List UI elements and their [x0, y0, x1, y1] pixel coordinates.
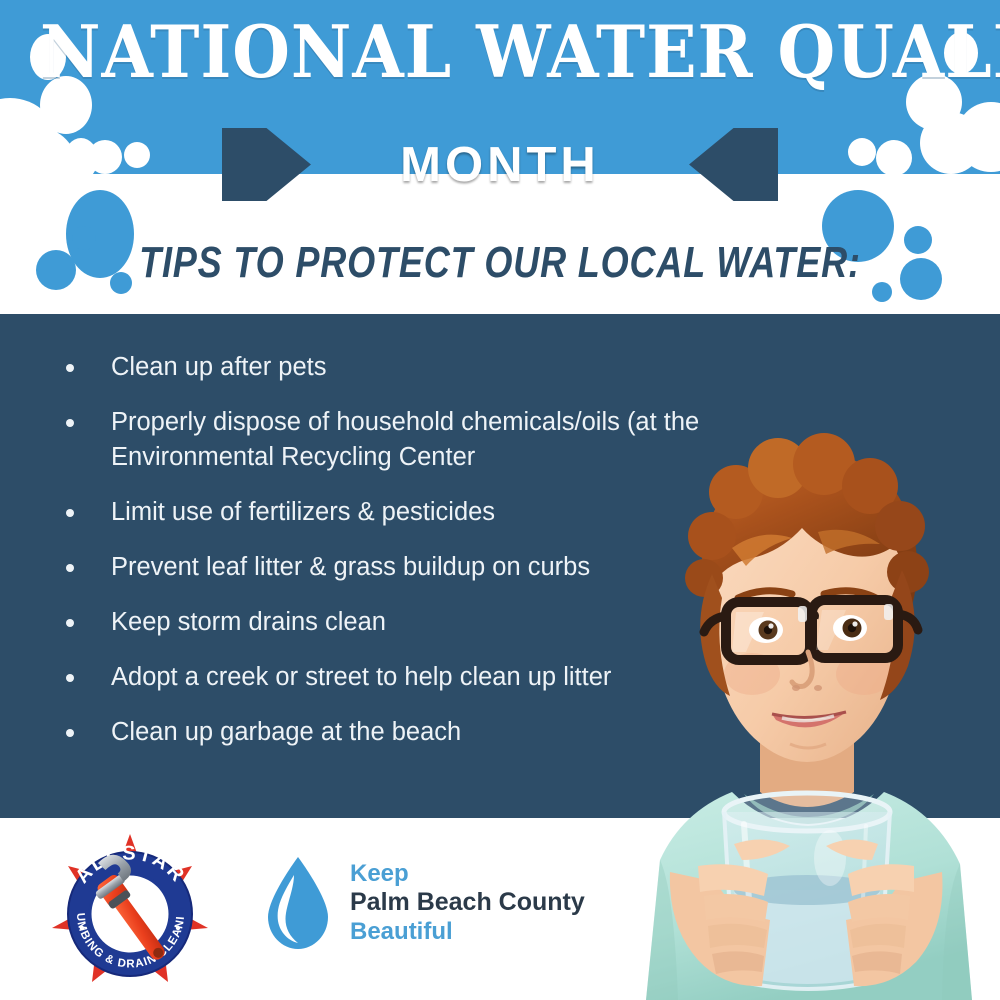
keep-pbc-text: Keep Palm Beach County Beautiful: [350, 860, 585, 946]
bubble-decor: [88, 140, 122, 174]
subtitle: TIPS TO PROTECT OUR LOCAL WATER:: [90, 238, 910, 288]
bullet-icon: [66, 674, 74, 682]
bubble-decor: [920, 112, 982, 174]
keep-pbc-line3: Beautiful: [350, 918, 585, 946]
keep-pbc-line2: Palm Beach County: [350, 888, 585, 918]
list-item-label: Keep storm drains clean: [111, 608, 386, 636]
list-item-label: Limit use of fertilizers & pesticides: [111, 498, 495, 526]
bubble-decor: [848, 138, 876, 166]
month-ribbon-label: MONTH: [222, 128, 778, 201]
bullet-icon: [66, 564, 74, 572]
list-item-label: Clean up garbage at the beach: [111, 718, 461, 746]
list-item: Clean up after pets: [56, 350, 736, 385]
water-drop-icon: [262, 855, 334, 951]
bullet-icon: [66, 419, 74, 427]
bubble-decor: [876, 140, 912, 176]
list-item-label: Properly dispose of household chemicals/…: [111, 408, 699, 471]
keep-pbc-line1: Keep: [350, 860, 585, 888]
page-title: NATIONAL WATER QUALITY: [40, 16, 960, 88]
boy-photo: [612, 420, 1000, 1000]
bubble-decor: [124, 142, 150, 168]
bullet-icon: [66, 364, 74, 372]
bubble-decor: [36, 250, 76, 290]
list-item-label: Adopt a creek or street to help clean up…: [111, 663, 611, 691]
list-item-label: Prevent leaf litter & grass buildup on c…: [111, 553, 590, 581]
bullet-icon: [66, 729, 74, 737]
poster-root: NATIONAL WATER QUALITY MONTH TIPS TO PRO…: [0, 0, 1000, 1000]
keep-pbc-beautiful-logo: Keep Palm Beach County Beautiful: [262, 855, 585, 951]
bullet-icon: [66, 509, 74, 517]
allstar-logo: ALLSTAR PLUMBING & DRAIN CLEANING: [48, 832, 213, 992]
list-item-label: Clean up after pets: [111, 353, 326, 381]
bullet-icon: [66, 619, 74, 627]
